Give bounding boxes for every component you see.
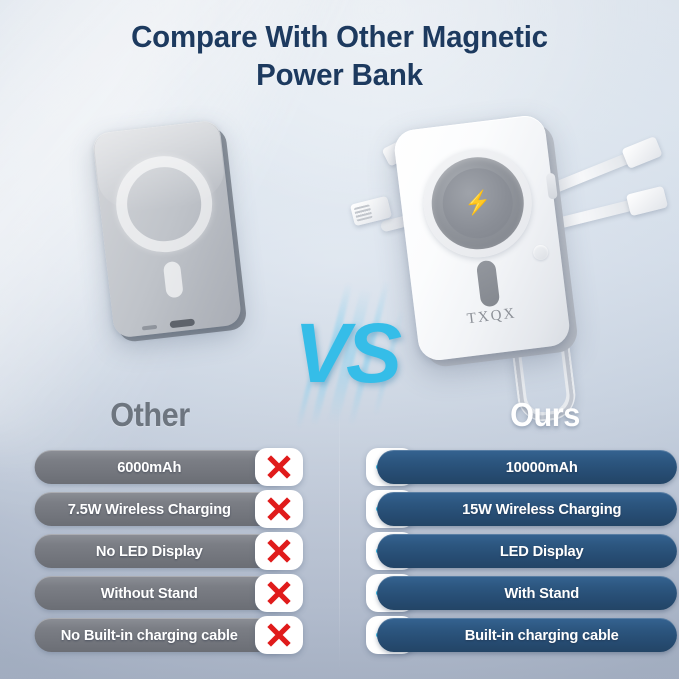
cross-badge [255,490,303,528]
other-feature-pill: No LED Display [35,534,290,568]
product-showcase: ⚡ TXQX VS [0,108,679,393]
ours-feature-pill: LED Display [377,534,677,568]
other-feature-pill: 6000mAh [35,450,290,484]
other-feature-pill: Without Stand [35,576,290,610]
cross-icon [265,621,293,649]
column-header-ours: Ours [429,396,662,434]
title-line-2: Power Bank [17,56,662,94]
cross-badge [255,448,303,486]
table-row: No Built-in charging cable [0,618,679,652]
comparison-infographic: Compare With Other Magnetic Power Bank [0,0,679,679]
cross-icon [265,579,293,607]
ours-power-bank-image: ⚡ TXQX [392,114,571,363]
cross-badge [255,616,303,654]
column-header-other: Other [38,396,261,434]
table-row: Without Stand W [0,576,679,610]
cross-badge [255,574,303,612]
versus-graphic: VS [282,284,410,424]
cross-badge [255,532,303,570]
title-line-1: Compare With Other Magnetic [131,19,548,54]
other-power-bank-image [92,119,242,338]
comparison-rows: 6000mAh 10000mA [0,450,679,660]
ours-feature-pill: Built-in charging cable [377,618,677,652]
versus-label: VS [282,284,410,424]
page-title: Compare With Other Magnetic Power Bank [17,18,662,94]
table-row: 6000mAh 10000mA [0,450,679,484]
table-row: No LED Display [0,534,679,568]
table-row: 7.5W Wireless Charging [0,492,679,526]
cross-icon [265,453,293,481]
lightning-bolt-icon: ⚡ [463,191,493,216]
cross-icon [265,537,293,565]
other-feature-pill: 7.5W Wireless Charging [35,492,290,526]
ours-feature-pill: 10000mAh [377,450,677,484]
cross-icon [265,495,293,523]
ours-feature-pill: With Stand [377,576,677,610]
ours-feature-pill: 15W Wireless Charging [377,492,677,526]
other-feature-pill: No Built-in charging cable [35,618,290,652]
